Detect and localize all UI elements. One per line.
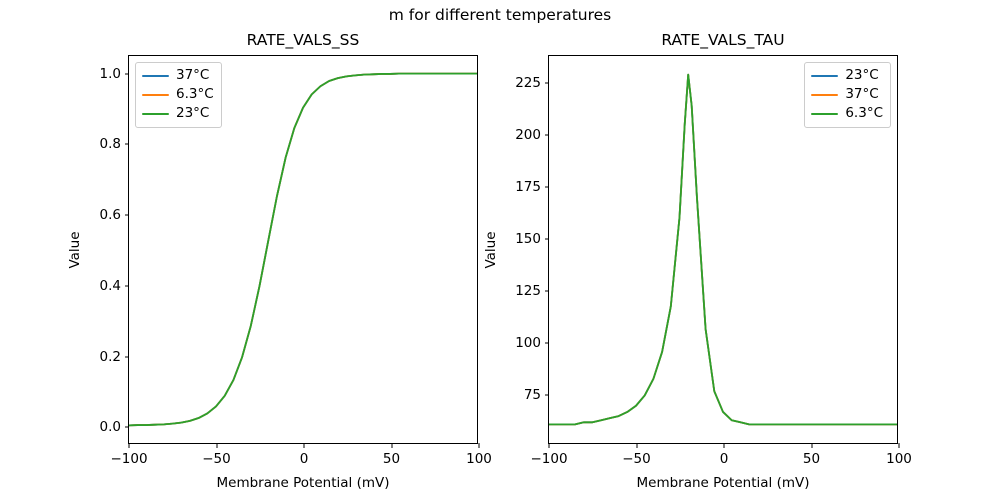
legend-entry[interactable]: 23°C (142, 106, 214, 122)
axes-right-ylabel: Value (483, 231, 499, 268)
y-tick-label: 1.0 (100, 66, 121, 82)
legend-label: 23°C (176, 107, 209, 121)
axes-left-ylabel: Value (67, 231, 83, 268)
legend-color-swatch (142, 113, 169, 115)
y-tick-mark (545, 83, 550, 84)
legend-color-swatch (811, 75, 838, 77)
x-tick-label: 0 (300, 451, 309, 467)
x-tick-mark (304, 443, 305, 448)
legend-left[interactable]: 37°C6.3°C23°C (135, 62, 222, 128)
matplotlib-figure: m for different temperatures RATE_VALS_S… (0, 0, 1000, 500)
x-tick-mark (724, 443, 725, 448)
y-tick-mark (125, 427, 130, 428)
axes-left-xlabel: Membrane Potential (mV) (129, 475, 477, 491)
x-tick-label: −100 (530, 451, 567, 467)
legend-label: 6.3°C (176, 88, 214, 102)
y-tick-mark (125, 73, 130, 74)
y-tick-mark (545, 239, 550, 240)
axes-right-xlabel: Membrane Potential (mV) (549, 475, 897, 491)
y-tick-label: 0.8 (100, 136, 121, 152)
legend-entry[interactable]: 23°C (811, 68, 883, 84)
legend-label: 37°C (845, 88, 878, 102)
x-tick-mark (811, 443, 812, 448)
y-tick-label: 200 (515, 127, 541, 143)
y-tick-label: 0.2 (100, 349, 121, 365)
legend-entry[interactable]: 37°C (142, 68, 214, 84)
x-tick-label: 100 (466, 451, 492, 467)
y-tick-label: 0.4 (100, 278, 121, 294)
y-tick-mark (545, 135, 550, 136)
legend-color-swatch (142, 75, 169, 77)
x-tick-mark (216, 443, 217, 448)
legend-entry[interactable]: 37°C (811, 87, 883, 103)
x-tick-label: −50 (202, 451, 231, 467)
x-tick-mark (479, 443, 480, 448)
axes-right-title: RATE_VALS_TAU (549, 31, 897, 49)
x-tick-mark (549, 443, 550, 448)
y-tick-mark (545, 291, 550, 292)
y-tick-label: 125 (515, 283, 541, 299)
y-tick-mark (545, 343, 550, 344)
x-tick-label: 0 (720, 451, 729, 467)
y-tick-mark (125, 144, 130, 145)
x-tick-label: 50 (383, 451, 400, 467)
axes-rate-vals-tau: RATE_VALS_TAU −100−500501007510012515017… (548, 55, 898, 444)
axes-rate-vals-ss: RATE_VALS_SS −100−500501000.00.20.40.60.… (128, 55, 478, 444)
legend-entry[interactable]: 6.3°C (142, 87, 214, 103)
y-tick-mark (125, 215, 130, 216)
y-tick-label: 75 (524, 387, 541, 403)
y-tick-mark (125, 285, 130, 286)
y-tick-label: 0.6 (100, 207, 121, 223)
y-tick-label: 225 (515, 75, 541, 91)
y-tick-label: 100 (515, 335, 541, 351)
y-tick-mark (545, 187, 550, 188)
axes-left-title: RATE_VALS_SS (129, 31, 477, 49)
legend-right[interactable]: 23°C37°C6.3°C (804, 62, 891, 128)
x-tick-mark (391, 443, 392, 448)
y-tick-label: 0.0 (100, 419, 121, 435)
legend-color-swatch (811, 94, 838, 96)
x-tick-label: −50 (622, 451, 651, 467)
legend-color-swatch (142, 94, 169, 96)
x-tick-label: 100 (886, 451, 912, 467)
x-tick-label: 50 (803, 451, 820, 467)
legend-label: 23°C (845, 69, 878, 83)
x-tick-mark (636, 443, 637, 448)
legend-color-swatch (811, 113, 838, 115)
y-tick-mark (545, 395, 550, 396)
legend-entry[interactable]: 6.3°C (811, 106, 883, 122)
y-tick-mark (125, 356, 130, 357)
legend-label: 6.3°C (845, 107, 883, 121)
x-tick-label: −100 (110, 451, 147, 467)
figure-suptitle: m for different temperatures (0, 6, 1000, 24)
legend-label: 37°C (176, 69, 209, 83)
x-tick-mark (899, 443, 900, 448)
y-tick-label: 175 (515, 179, 541, 195)
x-tick-mark (129, 443, 130, 448)
y-tick-label: 150 (515, 231, 541, 247)
